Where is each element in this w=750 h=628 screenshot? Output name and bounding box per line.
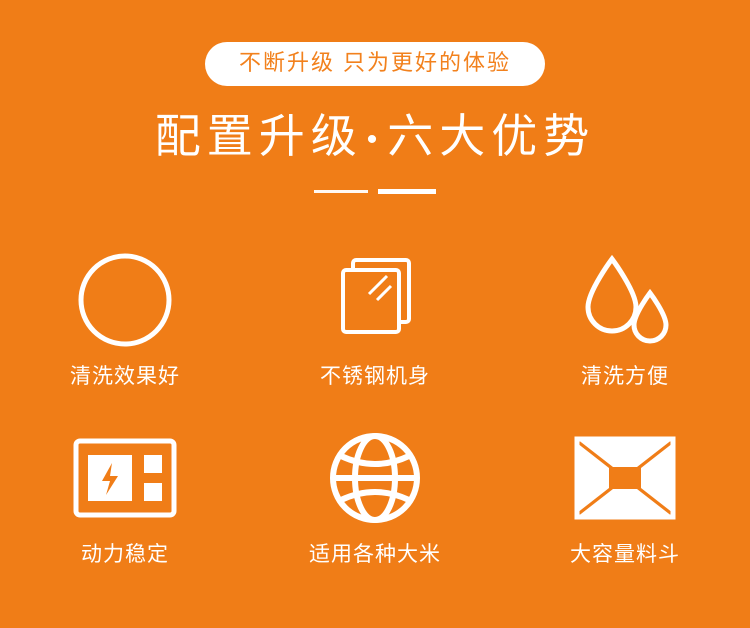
badge-text: 不断升级 只为更好的体验 <box>239 50 511 75</box>
feature-item-clean-effect: 清洗效果好 <box>0 246 250 424</box>
headline-right: 六大优势 <box>387 110 595 162</box>
feature-label: 大容量料斗 <box>570 538 680 568</box>
top-accent-bar <box>0 0 750 7</box>
feature-label: 适用各种大米 <box>309 538 441 568</box>
stacked-panels-icon <box>325 246 425 354</box>
divider-gap <box>368 190 378 193</box>
feature-label: 不锈钢机身 <box>320 360 430 390</box>
headline-dot: • <box>363 123 388 156</box>
feature-label: 清洗效果好 <box>70 360 180 390</box>
feature-item-easy-clean: 清洗方便 <box>500 246 750 424</box>
feature-item-all-rice-types: 适用各种大米 <box>250 424 500 602</box>
feature-item-large-hopper: 大容量料斗 <box>500 424 750 602</box>
hopper-funnel-icon <box>573 424 677 532</box>
divider-segment-left <box>314 190 368 193</box>
badge-pill: 不断升级 只为更好的体验 <box>205 42 545 86</box>
feature-item-stainless-body: 不锈钢机身 <box>250 246 500 424</box>
promo-page: 不断升级 只为更好的体验 配置升级•六大优势 清洗效果好 <box>0 0 750 628</box>
feature-label: 动力稳定 <box>81 538 169 568</box>
feature-label: 清洗方便 <box>581 360 669 390</box>
divider-segment-right <box>378 189 436 194</box>
power-panel-icon <box>70 424 180 532</box>
headline-left: 配置升级 <box>155 110 363 162</box>
circle-icon <box>75 246 175 354</box>
page-title: 配置升级•六大优势 <box>155 110 596 163</box>
feature-item-stable-power: 动力稳定 <box>0 424 250 602</box>
globe-grid-icon <box>327 424 423 532</box>
feature-grid: 清洗效果好 不锈钢机身 清洗方便 <box>0 246 750 602</box>
divider <box>314 189 436 194</box>
water-drops-icon <box>570 246 680 354</box>
